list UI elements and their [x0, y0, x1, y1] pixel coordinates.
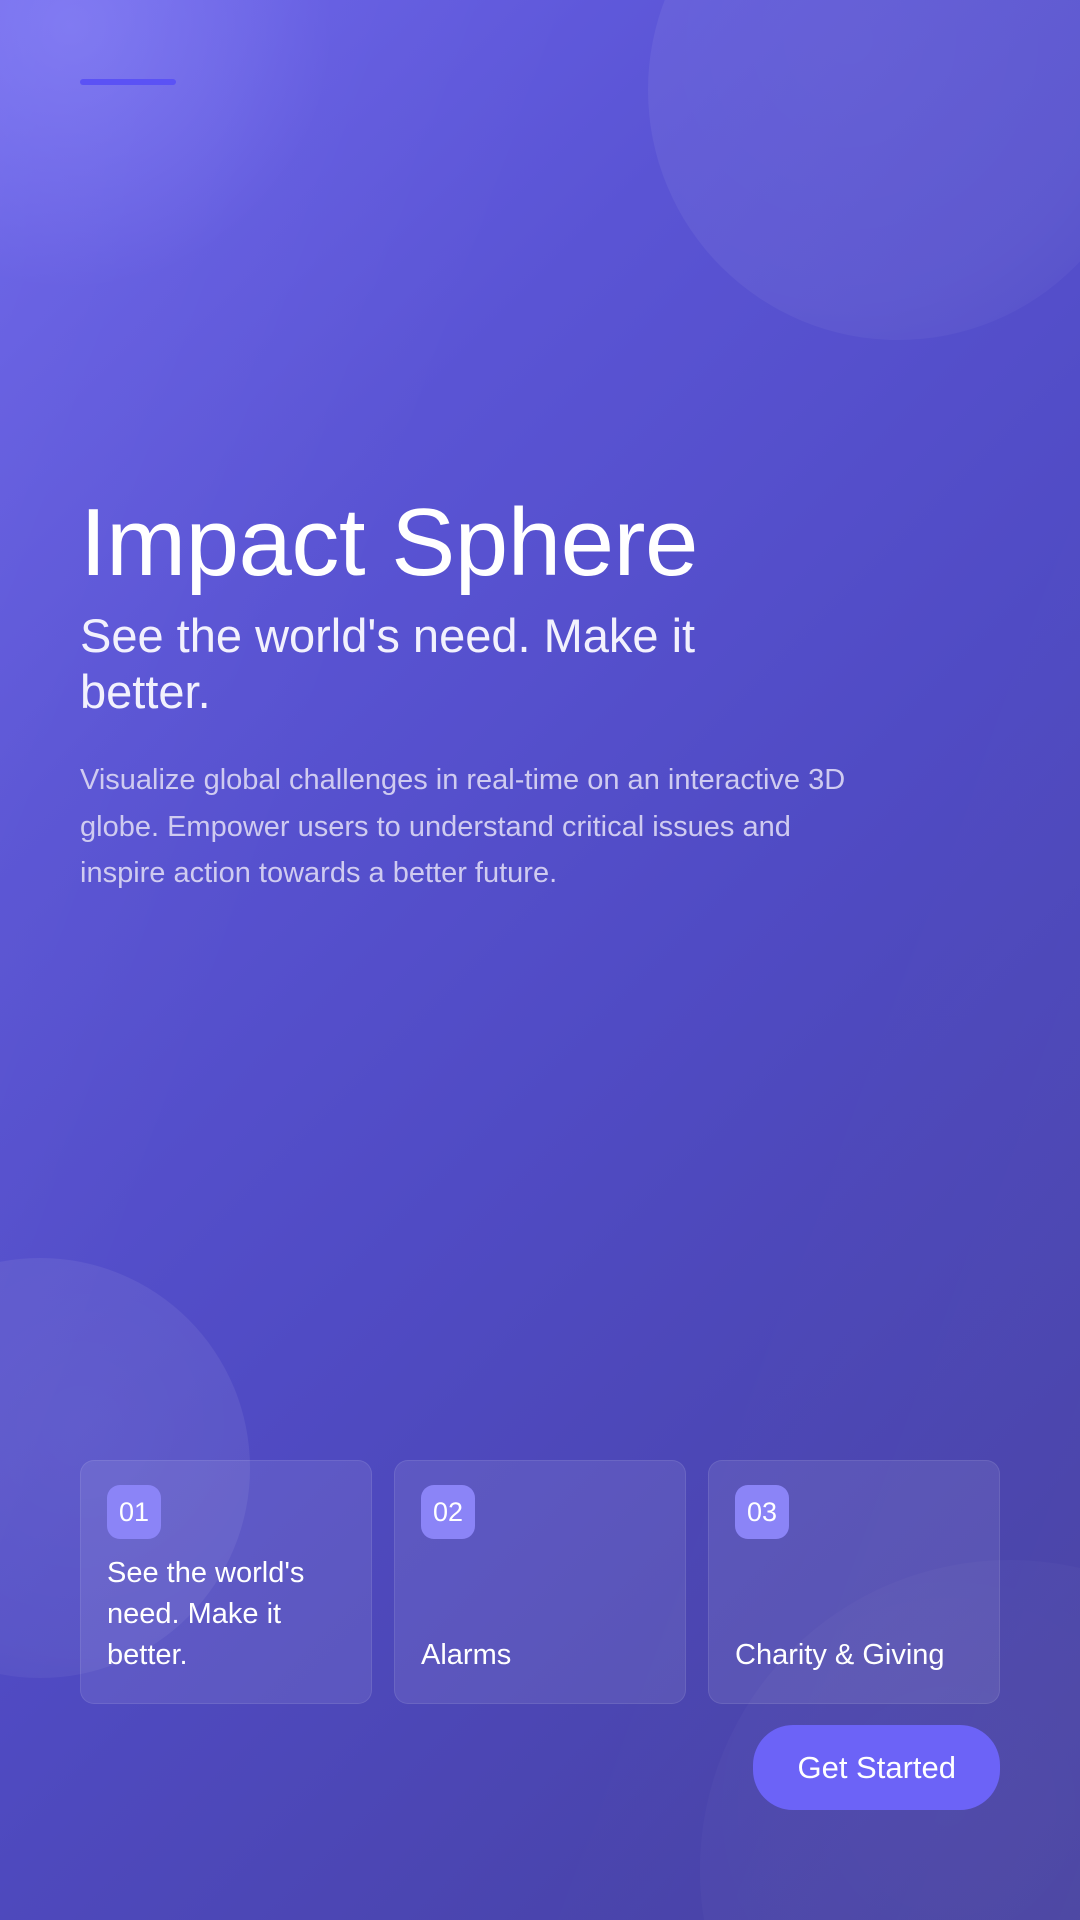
page-title: Impact Sphere: [80, 492, 920, 594]
hero-description: Visualize global challenges in real-time…: [80, 757, 850, 898]
accent-bar: [80, 79, 176, 85]
card-label: See the world's need. Make it better.: [107, 1553, 345, 1677]
feature-card[interactable]: 03 Charity & Giving: [708, 1460, 1000, 1704]
get-started-button[interactable]: Get Started: [753, 1725, 1000, 1810]
cta-row: Get Started: [80, 1725, 1000, 1810]
feature-card-list: 01 See the world's need. Make it better.…: [80, 1460, 1000, 1704]
card-spacer: [421, 1539, 659, 1623]
background-glow-top-left: [0, 0, 330, 285]
background-circle-top-right: [648, 0, 1080, 340]
feature-card[interactable]: 01 See the world's need. Make it better.: [80, 1460, 372, 1704]
card-spacer: [735, 1539, 973, 1623]
card-number-badge: 03: [735, 1485, 789, 1539]
app-screen: Impact Sphere See the world's need. Make…: [0, 0, 1080, 1920]
card-number-badge: 01: [107, 1485, 161, 1539]
feature-card[interactable]: 02 Alarms: [394, 1460, 686, 1704]
hero-subtitle: See the world's need. Make it better.: [80, 608, 820, 721]
card-label: Charity & Giving: [735, 1635, 973, 1676]
hero-section: Impact Sphere See the world's need. Make…: [80, 492, 920, 897]
card-label: Alarms: [421, 1635, 659, 1676]
card-number-badge: 02: [421, 1485, 475, 1539]
